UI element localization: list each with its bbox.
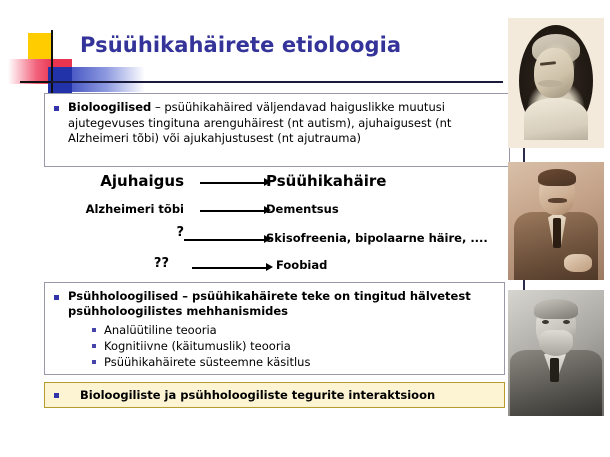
psychological-factors-box: Psühholoogilised – psüühikahäirete teke … <box>44 282 505 375</box>
diagram-row-left: Alzheimeri tõbi <box>44 202 184 216</box>
portrait-photo-bottom <box>508 290 604 416</box>
diagram-arrow-0 <box>200 178 272 187</box>
square-bullet-icon <box>54 106 59 111</box>
diagram-row: ? Skisofreenia, bipolaarne häire, .... <box>44 227 514 249</box>
diagram-header-left: Ajuhaigus <box>44 172 184 190</box>
diagram-row: ?? Foobiad <box>44 258 514 280</box>
portrait-moustache <box>538 80 562 87</box>
square-bullet-icon <box>92 328 96 332</box>
blue-gradient-decoration <box>60 67 145 92</box>
portrait-tie <box>553 218 561 248</box>
portrait-body <box>524 98 588 140</box>
psychological-lead: Psühholoogilised – psüühikahäirete teke … <box>68 289 496 318</box>
list-item-label: Psüühikahäirete süsteemne käsitlus <box>104 354 310 370</box>
portrait-hair <box>538 169 576 186</box>
square-bullet-icon <box>54 393 59 398</box>
interaction-summary-box: Bioloogiliste ja psühholoogiliste teguri… <box>44 382 505 408</box>
square-bullet-icon <box>92 360 96 364</box>
list-item: Psüühikahäirete süsteemne käsitlus <box>92 354 496 370</box>
diagram-arrow-1 <box>200 206 272 215</box>
portrait-face <box>534 48 574 98</box>
portrait-moustache <box>548 198 567 203</box>
biological-factors-box: Bioloogilised – psüühikahäired väljendav… <box>44 93 510 167</box>
psychological-theory-list: Analüütiline teooria Kognitiivne (käitum… <box>92 322 496 370</box>
portrait-hands <box>564 254 592 272</box>
interaction-text: Bioloogiliste ja psühholoogiliste teguri… <box>68 388 435 403</box>
list-item-label: Analüütiline teooria <box>104 322 217 338</box>
list-item-label: Kognitiivne (käitumuslik) teooria <box>104 338 291 354</box>
square-bullet-icon <box>54 295 59 300</box>
diagram-row-right: Skisofreenia, bipolaarne häire, .... <box>266 231 488 245</box>
list-item: Kognitiivne (käitumuslik) teooria <box>92 338 496 354</box>
yellow-square-decoration <box>28 33 53 59</box>
page-title: Psüühikahäirete etioloogia <box>80 33 401 57</box>
portrait-photo-top <box>508 18 604 148</box>
biological-paragraph: Bioloogilised – psüühikahäired väljendav… <box>68 100 501 147</box>
list-item: Analüütiline teooria <box>92 322 496 338</box>
diagram-row-left: ? <box>44 225 184 240</box>
square-bullet-icon <box>92 344 96 348</box>
diagram-arrow-3 <box>192 263 274 272</box>
title-divider <box>51 81 503 83</box>
diagram-header-right: Psüühikahäire <box>266 172 386 190</box>
diagram-row-right: Dementsus <box>266 202 339 216</box>
biological-lead: Bioloogilised <box>68 100 151 114</box>
portrait-photo-middle <box>508 162 604 280</box>
portrait-beard <box>539 330 573 356</box>
portrait-hair <box>534 299 578 319</box>
portrait-tie <box>550 358 559 382</box>
diagram-row-left: ?? <box>44 256 169 271</box>
diagram-row: Alzheimeri tõbi Dementsus <box>44 202 514 224</box>
diagram-row-right: Foobiad <box>276 258 327 272</box>
diagram-arrow-2 <box>184 235 272 244</box>
diagram-row-header: Ajuhaigus Psüühikahäire <box>44 172 514 194</box>
portrait-eyes <box>542 320 570 324</box>
cause-effect-diagram: Ajuhaigus Psüühikahäire Alzheimeri tõbi … <box>44 172 514 276</box>
